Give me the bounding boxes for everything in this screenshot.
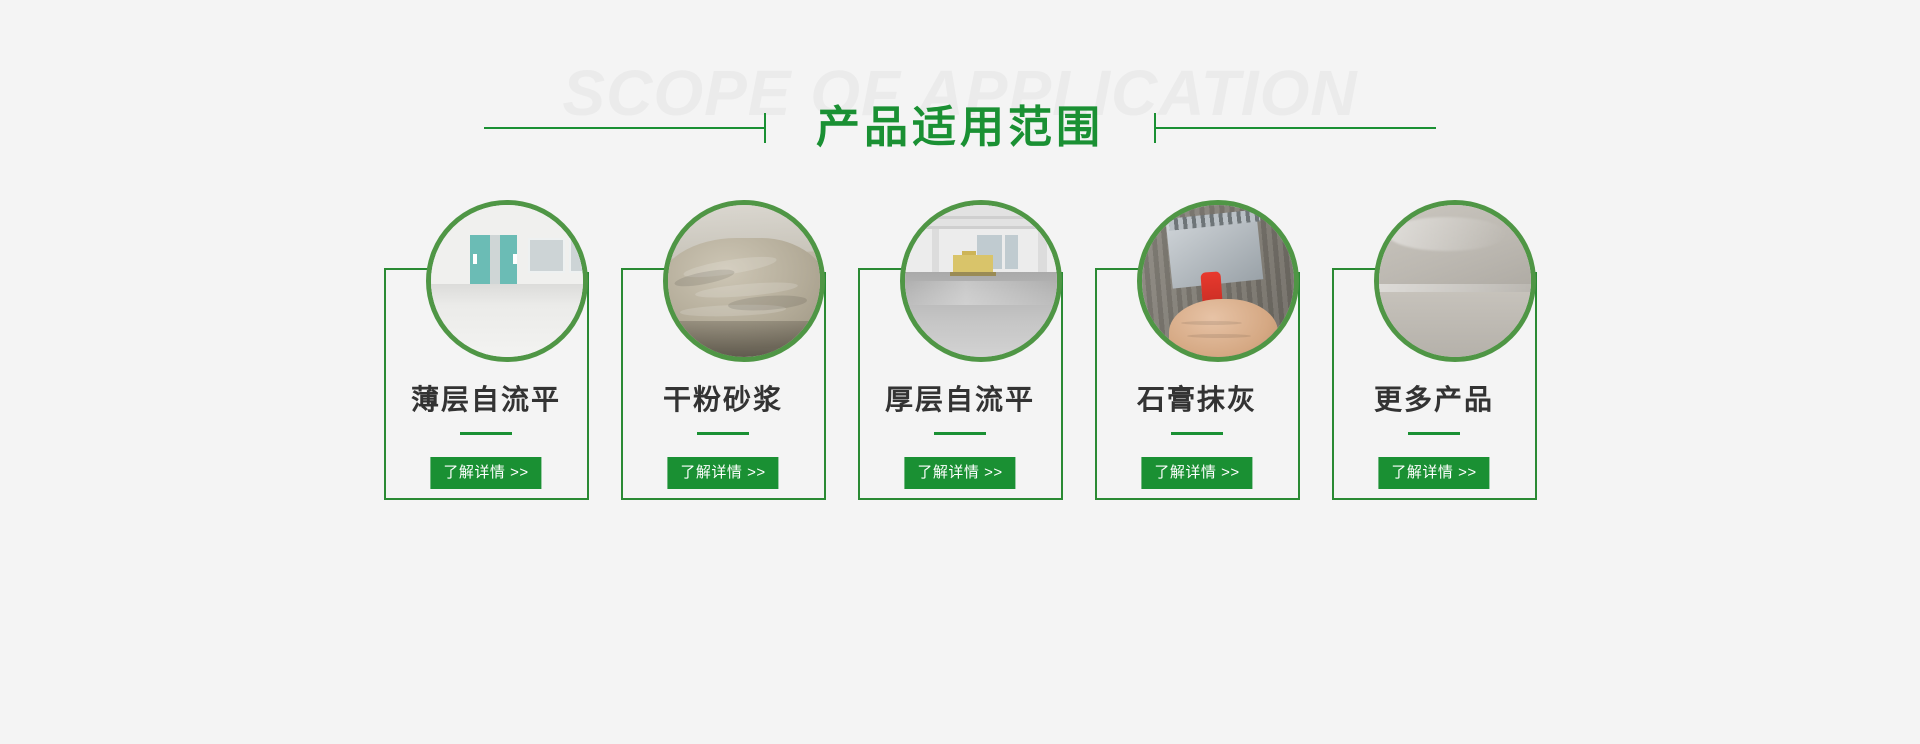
application-card-dry-powder-mortar[interactable]: 干粉砂浆 了解详情 >> bbox=[621, 200, 826, 500]
learn-more-button[interactable]: 了解详情 >> bbox=[1378, 457, 1489, 489]
application-card-thick-self-leveling[interactable]: 厚层自流平 了解详情 >> bbox=[858, 200, 1063, 500]
card-label-underline bbox=[934, 432, 986, 435]
card-label: 更多产品 bbox=[1332, 386, 1537, 414]
application-cards: 薄层自流平 了解详情 >> 干粉砂浆 了解详情 >> bbox=[0, 200, 1920, 500]
card-label-underline bbox=[460, 432, 512, 435]
learn-more-button[interactable]: 了解详情 >> bbox=[1141, 457, 1252, 489]
scope-of-application-section: SCOPE OF APPLICATION 产品适用范围 bbox=[0, 0, 1920, 744]
more-products-photo bbox=[1374, 200, 1536, 362]
title-rule-right bbox=[1156, 127, 1436, 129]
card-label-underline bbox=[1171, 432, 1223, 435]
application-card-thin-self-leveling[interactable]: 薄层自流平 了解详情 >> bbox=[384, 200, 589, 500]
thick-self-leveling-floor-photo bbox=[900, 200, 1062, 362]
dry-powder-mortar-photo bbox=[663, 200, 825, 362]
application-card-more-products[interactable]: 更多产品 了解详情 >> bbox=[1332, 200, 1537, 500]
thin-self-leveling-floor-photo bbox=[426, 200, 588, 362]
title-tick-left bbox=[764, 113, 766, 143]
card-label: 薄层自流平 bbox=[384, 386, 589, 414]
page-title: 产品适用范围 bbox=[816, 106, 1104, 150]
card-label: 石膏抹灰 bbox=[1095, 386, 1300, 414]
learn-more-button[interactable]: 了解详情 >> bbox=[904, 457, 1015, 489]
section-header: SCOPE OF APPLICATION 产品适用范围 bbox=[0, 0, 1920, 200]
card-label: 厚层自流平 bbox=[858, 386, 1063, 414]
application-card-gypsum-plastering[interactable]: 石膏抹灰 了解详情 >> bbox=[1095, 200, 1300, 500]
card-label-underline bbox=[697, 432, 749, 435]
title-row: 产品适用范围 bbox=[0, 106, 1920, 150]
learn-more-button[interactable]: 了解详情 >> bbox=[667, 457, 778, 489]
title-rule-left bbox=[484, 127, 764, 129]
card-label: 干粉砂浆 bbox=[621, 386, 826, 414]
learn-more-button[interactable]: 了解详情 >> bbox=[430, 457, 541, 489]
gypsum-plastering-trowel-photo bbox=[1137, 200, 1299, 362]
card-label-underline bbox=[1408, 432, 1460, 435]
